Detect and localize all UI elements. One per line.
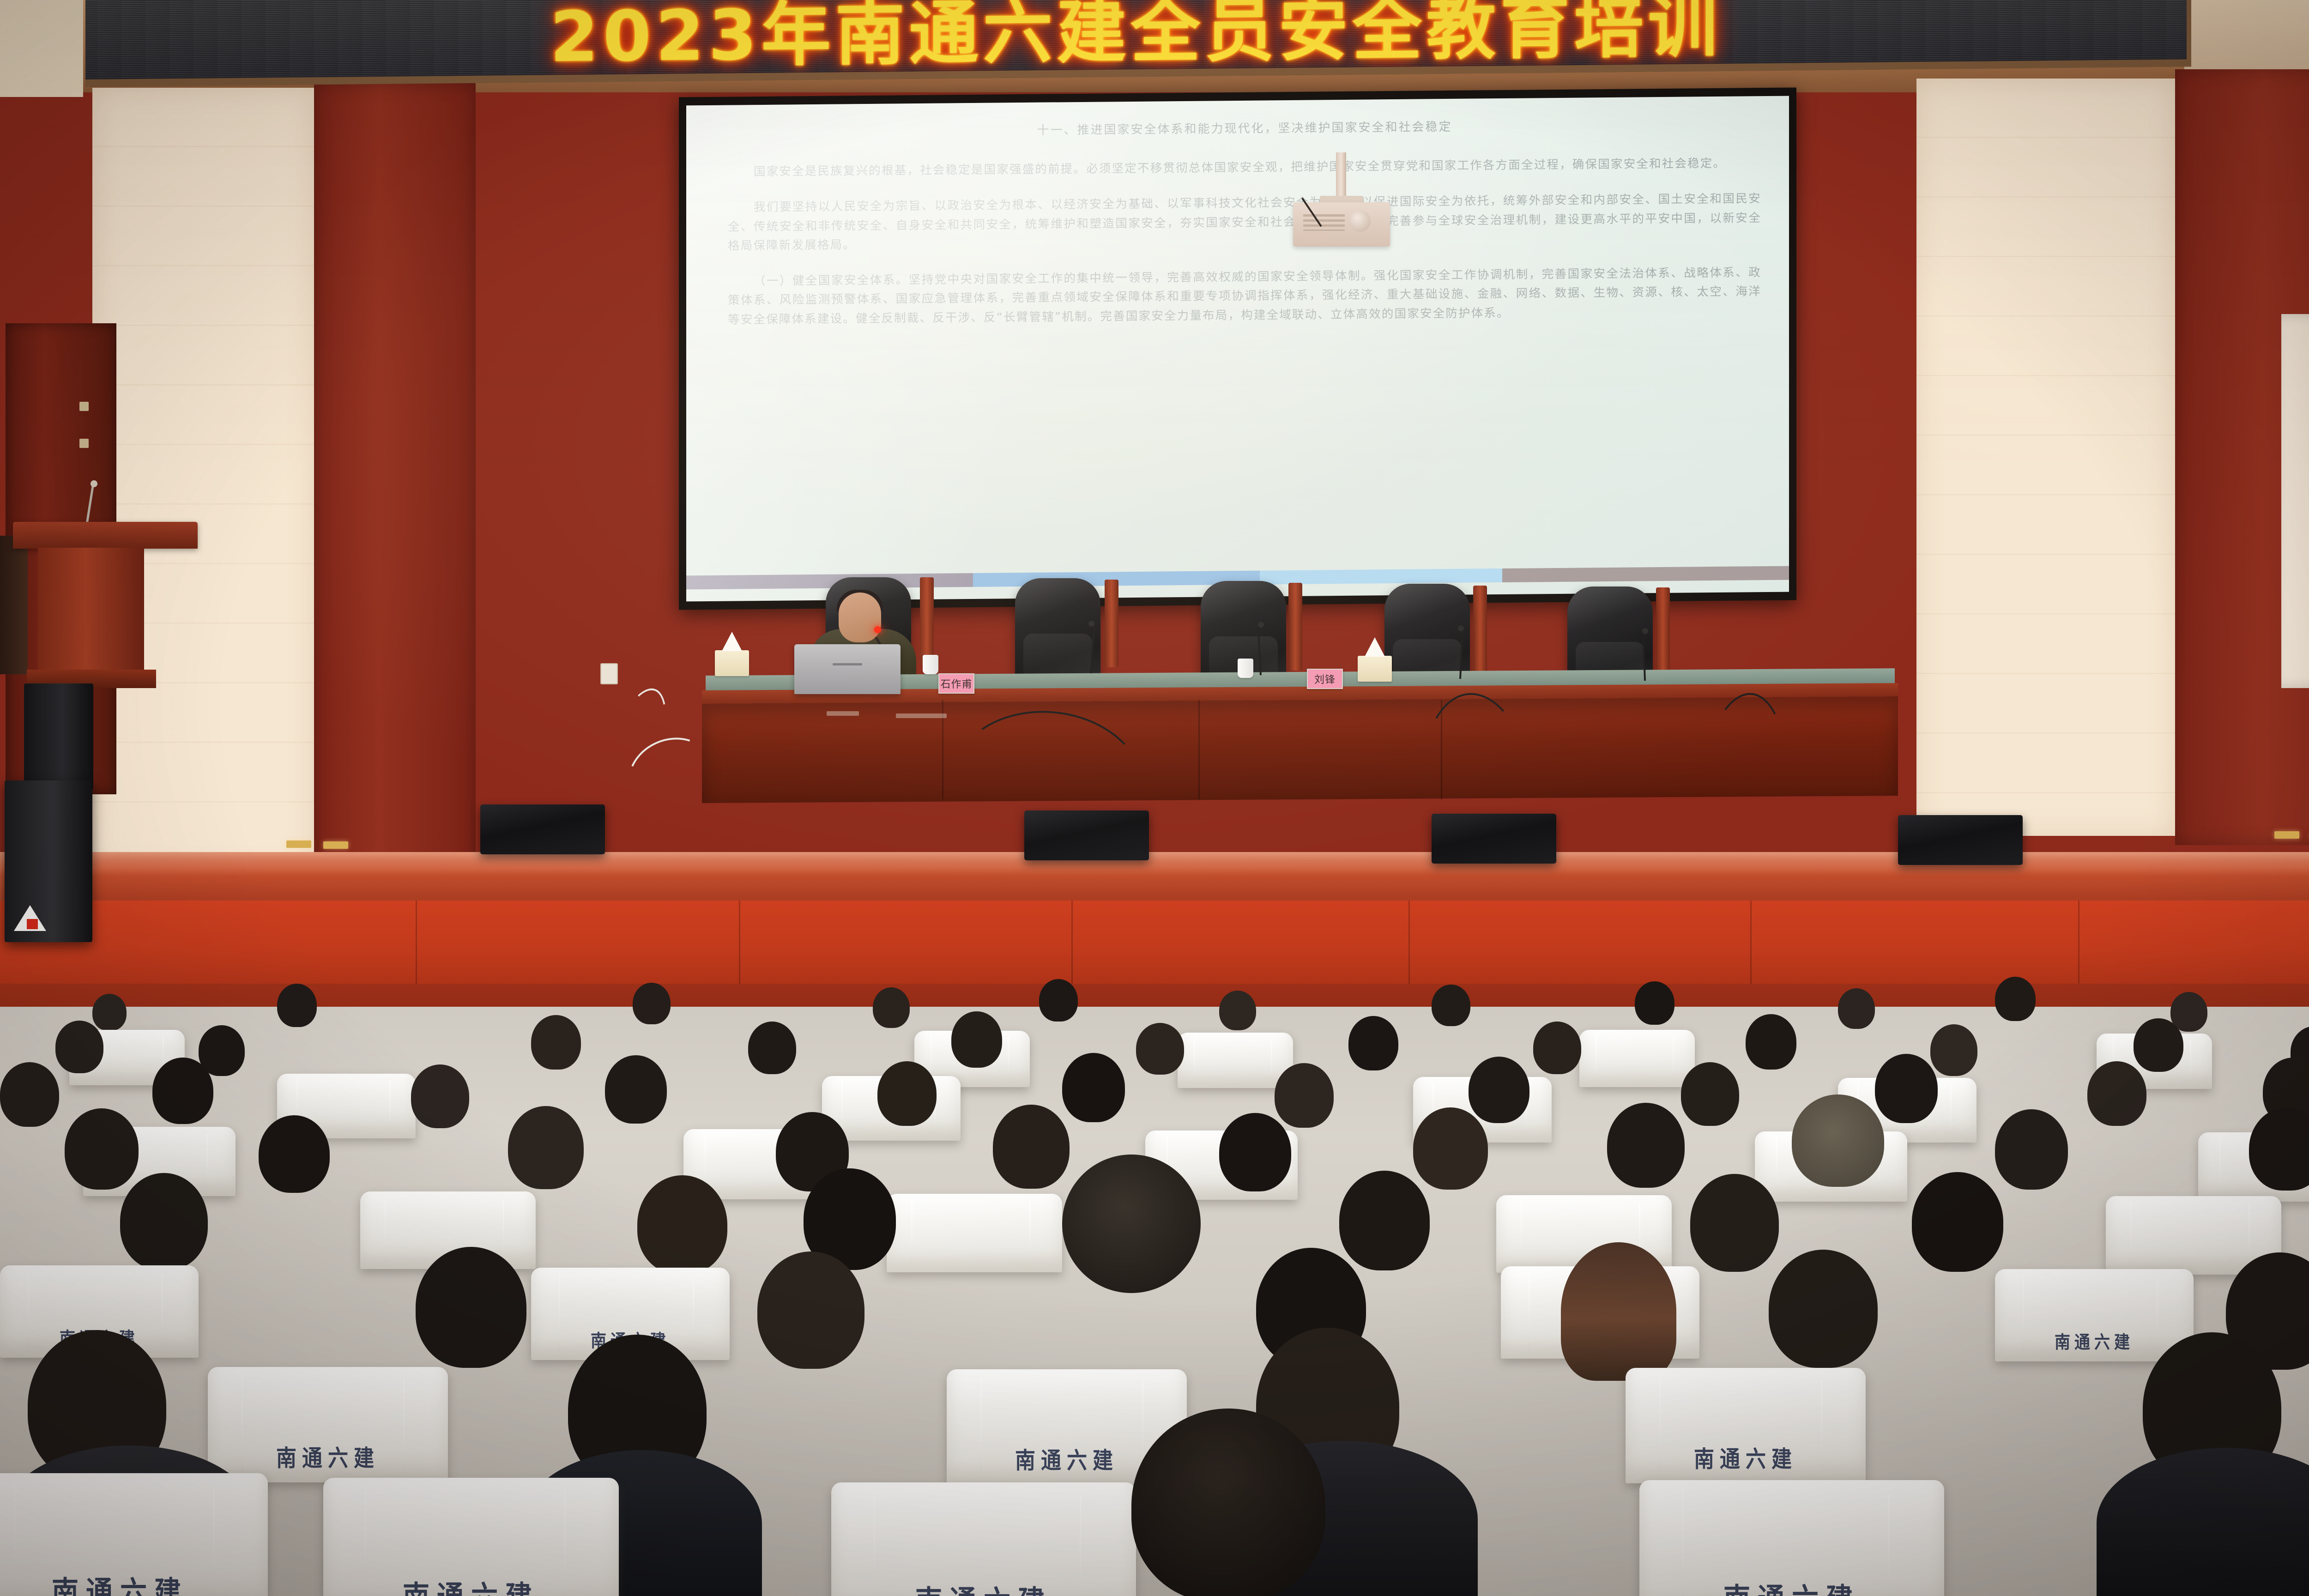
audience-seat-foreground[interactable]: 南通六建 [1639, 1480, 1944, 1596]
audience-seat-foreground[interactable]: 南通六建 [323, 1478, 619, 1596]
slide-paragraph-2: 我们要坚持以人民安全为宗旨、以政治安全为根本、以经济安全为基础、以军事科技文化社… [728, 189, 1761, 255]
audience-head [1746, 1014, 1796, 1070]
audience-head [877, 1061, 937, 1126]
audience-head [1533, 1022, 1581, 1074]
paper-cup-2 [1238, 659, 1253, 678]
door-handle-upper [79, 402, 89, 411]
audience-seat[interactable]: 南通六建 [208, 1367, 448, 1482]
slide-paragraph-3: （一）健全国家安全体系。坚持党中央对国家安全工作的集中统一领导，完善高效权威的国… [728, 263, 1761, 329]
audience-head [1339, 1171, 1430, 1270]
tissue-box-left [715, 650, 749, 676]
audience-head [0, 1062, 59, 1127]
microphone-led-indicator [874, 626, 881, 633]
audience-head [873, 987, 910, 1028]
audience-seat[interactable] [1178, 1033, 1293, 1088]
slide-heading: 十一、推进国家安全体系和能力现代化，坚决维护国家安全和社会稳定 [728, 115, 1761, 143]
stage-floor-marker-2 [323, 841, 348, 849]
ceiling-band-right-cream [2184, 0, 2309, 81]
audience-head [1062, 1053, 1125, 1122]
audience-head [1039, 979, 1078, 1022]
ceiling-band-left-cream [0, 0, 83, 97]
presenter-head [839, 592, 881, 642]
audience-head [993, 1105, 1070, 1189]
pa-speaker-lower [5, 780, 92, 942]
audience-head [1995, 977, 2036, 1021]
stage-monitor-2 [1024, 810, 1149, 860]
table-microphone-head-2 [1088, 621, 1094, 627]
audience-seat-foreground[interactable]: 南通六建 [0, 1473, 268, 1596]
audience-head [748, 1022, 796, 1074]
seat-cover-label: 南通六建 [208, 1439, 448, 1473]
chair-rail-5 [1656, 587, 1670, 675]
podium-body [38, 548, 144, 682]
audience-head [1219, 991, 1256, 1030]
chair-rail-3 [1288, 583, 1302, 671]
auditorium-photo: 安全出口 2023年南通六建全员安全教育培训 十一、推进国家安全体系和能力现代化… [0, 0, 2309, 1596]
stage-monitor-4 [1898, 815, 2023, 865]
wall-panel-cream-left [92, 88, 314, 873]
name-card-1: 石作甫 [938, 673, 974, 694]
audience-head [1432, 985, 1470, 1026]
audience-head [1838, 988, 1875, 1029]
audience-head [277, 984, 317, 1027]
audience-head [1469, 1057, 1529, 1123]
audience-seat[interactable] [1579, 1030, 1695, 1087]
audience-hooded-head [1792, 1094, 1884, 1187]
audience-seat[interactable]: 南通六建 [1626, 1368, 1866, 1483]
table-microphone-head-4 [1458, 625, 1464, 631]
slide-band-3 [1260, 568, 1502, 585]
slide-band-4 [1502, 566, 1789, 582]
audience-head [1275, 1063, 1334, 1128]
audience-head [1930, 1024, 1977, 1076]
audience-head [1912, 1172, 2003, 1272]
podium-microphone-head [91, 480, 97, 487]
audience-head-foreground [1131, 1409, 1325, 1596]
audience-head [1875, 1054, 1938, 1123]
stage-side-chair [0, 536, 28, 674]
slide-content: 十一、推进国家安全体系和能力现代化，坚决维护国家安全和社会稳定 国家安全是民族复… [728, 115, 1761, 601]
audience-head [1635, 981, 1674, 1025]
audience-head [1681, 1062, 1739, 1126]
audience-head [65, 1108, 139, 1190]
table-microphone-head-5 [1642, 628, 1648, 634]
audience-head [1995, 1109, 2068, 1190]
wall-panel-cream-right [1916, 79, 2175, 836]
table-microphone-head-3 [1258, 622, 1264, 628]
audience-head [55, 1021, 103, 1073]
seat-cover-label: 南通六建 [1639, 1575, 1944, 1596]
seat-cover-label: 南通六建 [0, 1568, 268, 1596]
stage-floor-marker-1 [286, 840, 311, 848]
audience-head [757, 1251, 864, 1369]
audience-head [92, 994, 127, 1031]
audience-head [120, 1173, 208, 1270]
audience-head [1607, 1103, 1685, 1188]
audience-head-long-hair [1561, 1242, 1676, 1381]
table-name-plate-2 [896, 713, 947, 718]
slide-paragraph-1: 国家安全是民族复兴的根基，社会稳定是国家强盛的前提。必须坚定不移贯彻总体国家安全… [728, 154, 1761, 182]
seat-cover-label: 南通六建 [1626, 1440, 1866, 1474]
projection-screen-frame: 十一、推进国家安全体系和能力现代化，坚决维护国家安全和社会稳定 国家安全是民族复… [679, 87, 1796, 610]
name-card-2: 刘锋 [1307, 669, 1343, 689]
audience-head [1219, 1113, 1291, 1191]
tissue-box-right [1358, 656, 1392, 682]
audience-seat-foreground[interactable]: 南通六建 [831, 1482, 1136, 1596]
audience-head [1769, 1250, 1878, 1368]
table-seam-2 [1198, 700, 1200, 799]
audience-head [508, 1106, 584, 1189]
audience-head [605, 1055, 667, 1124]
stage-monitor-3 [1432, 814, 1556, 864]
wall-pilaster-left [314, 83, 476, 873]
seat-cover-label: 南通六建 [831, 1577, 1136, 1596]
pa-speaker-logo-accent [27, 919, 38, 929]
projection-screen-surface: 十一、推进国家安全体系和能力现代化，坚决维护国家安全和社会稳定 国家安全是民族复… [686, 96, 1789, 602]
chair-rail-4 [1473, 586, 1487, 673]
stage-floor-marker-3 [2274, 831, 2299, 839]
stage-monitor-1 [480, 804, 605, 854]
audience-head [2134, 1018, 2183, 1072]
seat-cover-label: 南通六建 [323, 1572, 619, 1596]
audience-head [2087, 1061, 2146, 1126]
audience-head [633, 983, 671, 1024]
led-banner-text: 2023年南通六建全员安全教育培训 [550, 0, 1722, 81]
door-handle-lower [79, 439, 89, 448]
chair-rail-2 [1105, 580, 1118, 667]
paper-cup-1 [923, 655, 938, 674]
stage-right-open-doorway[interactable] [2281, 314, 2309, 688]
chair-rail-1 [920, 577, 934, 665]
projector-lens [1349, 211, 1371, 232]
audience-fur-hood [1062, 1155, 1201, 1293]
audience-head [152, 1058, 213, 1124]
audience-head [531, 1015, 581, 1070]
audience-head [411, 1064, 469, 1128]
audience-head [1413, 1107, 1488, 1190]
audience-head [259, 1115, 330, 1193]
audience-head [1690, 1174, 1779, 1272]
audience-head [951, 1011, 1002, 1068]
audience-seat[interactable] [887, 1194, 1062, 1272]
audience-seat[interactable]: 南通六建 [1995, 1269, 2194, 1361]
seat-cover-label: 南通六建 [1995, 1328, 2194, 1354]
pa-speaker-upper [24, 683, 93, 790]
audience-head [416, 1247, 526, 1368]
podium-top [13, 522, 198, 549]
table-name-plate-1 [827, 711, 859, 716]
audience-head [1348, 1016, 1398, 1070]
presenter-laptop[interactable] [794, 644, 901, 694]
audience-head [637, 1175, 727, 1274]
wall-power-outlet[interactable] [600, 663, 618, 684]
audience-head [1136, 1023, 1184, 1075]
